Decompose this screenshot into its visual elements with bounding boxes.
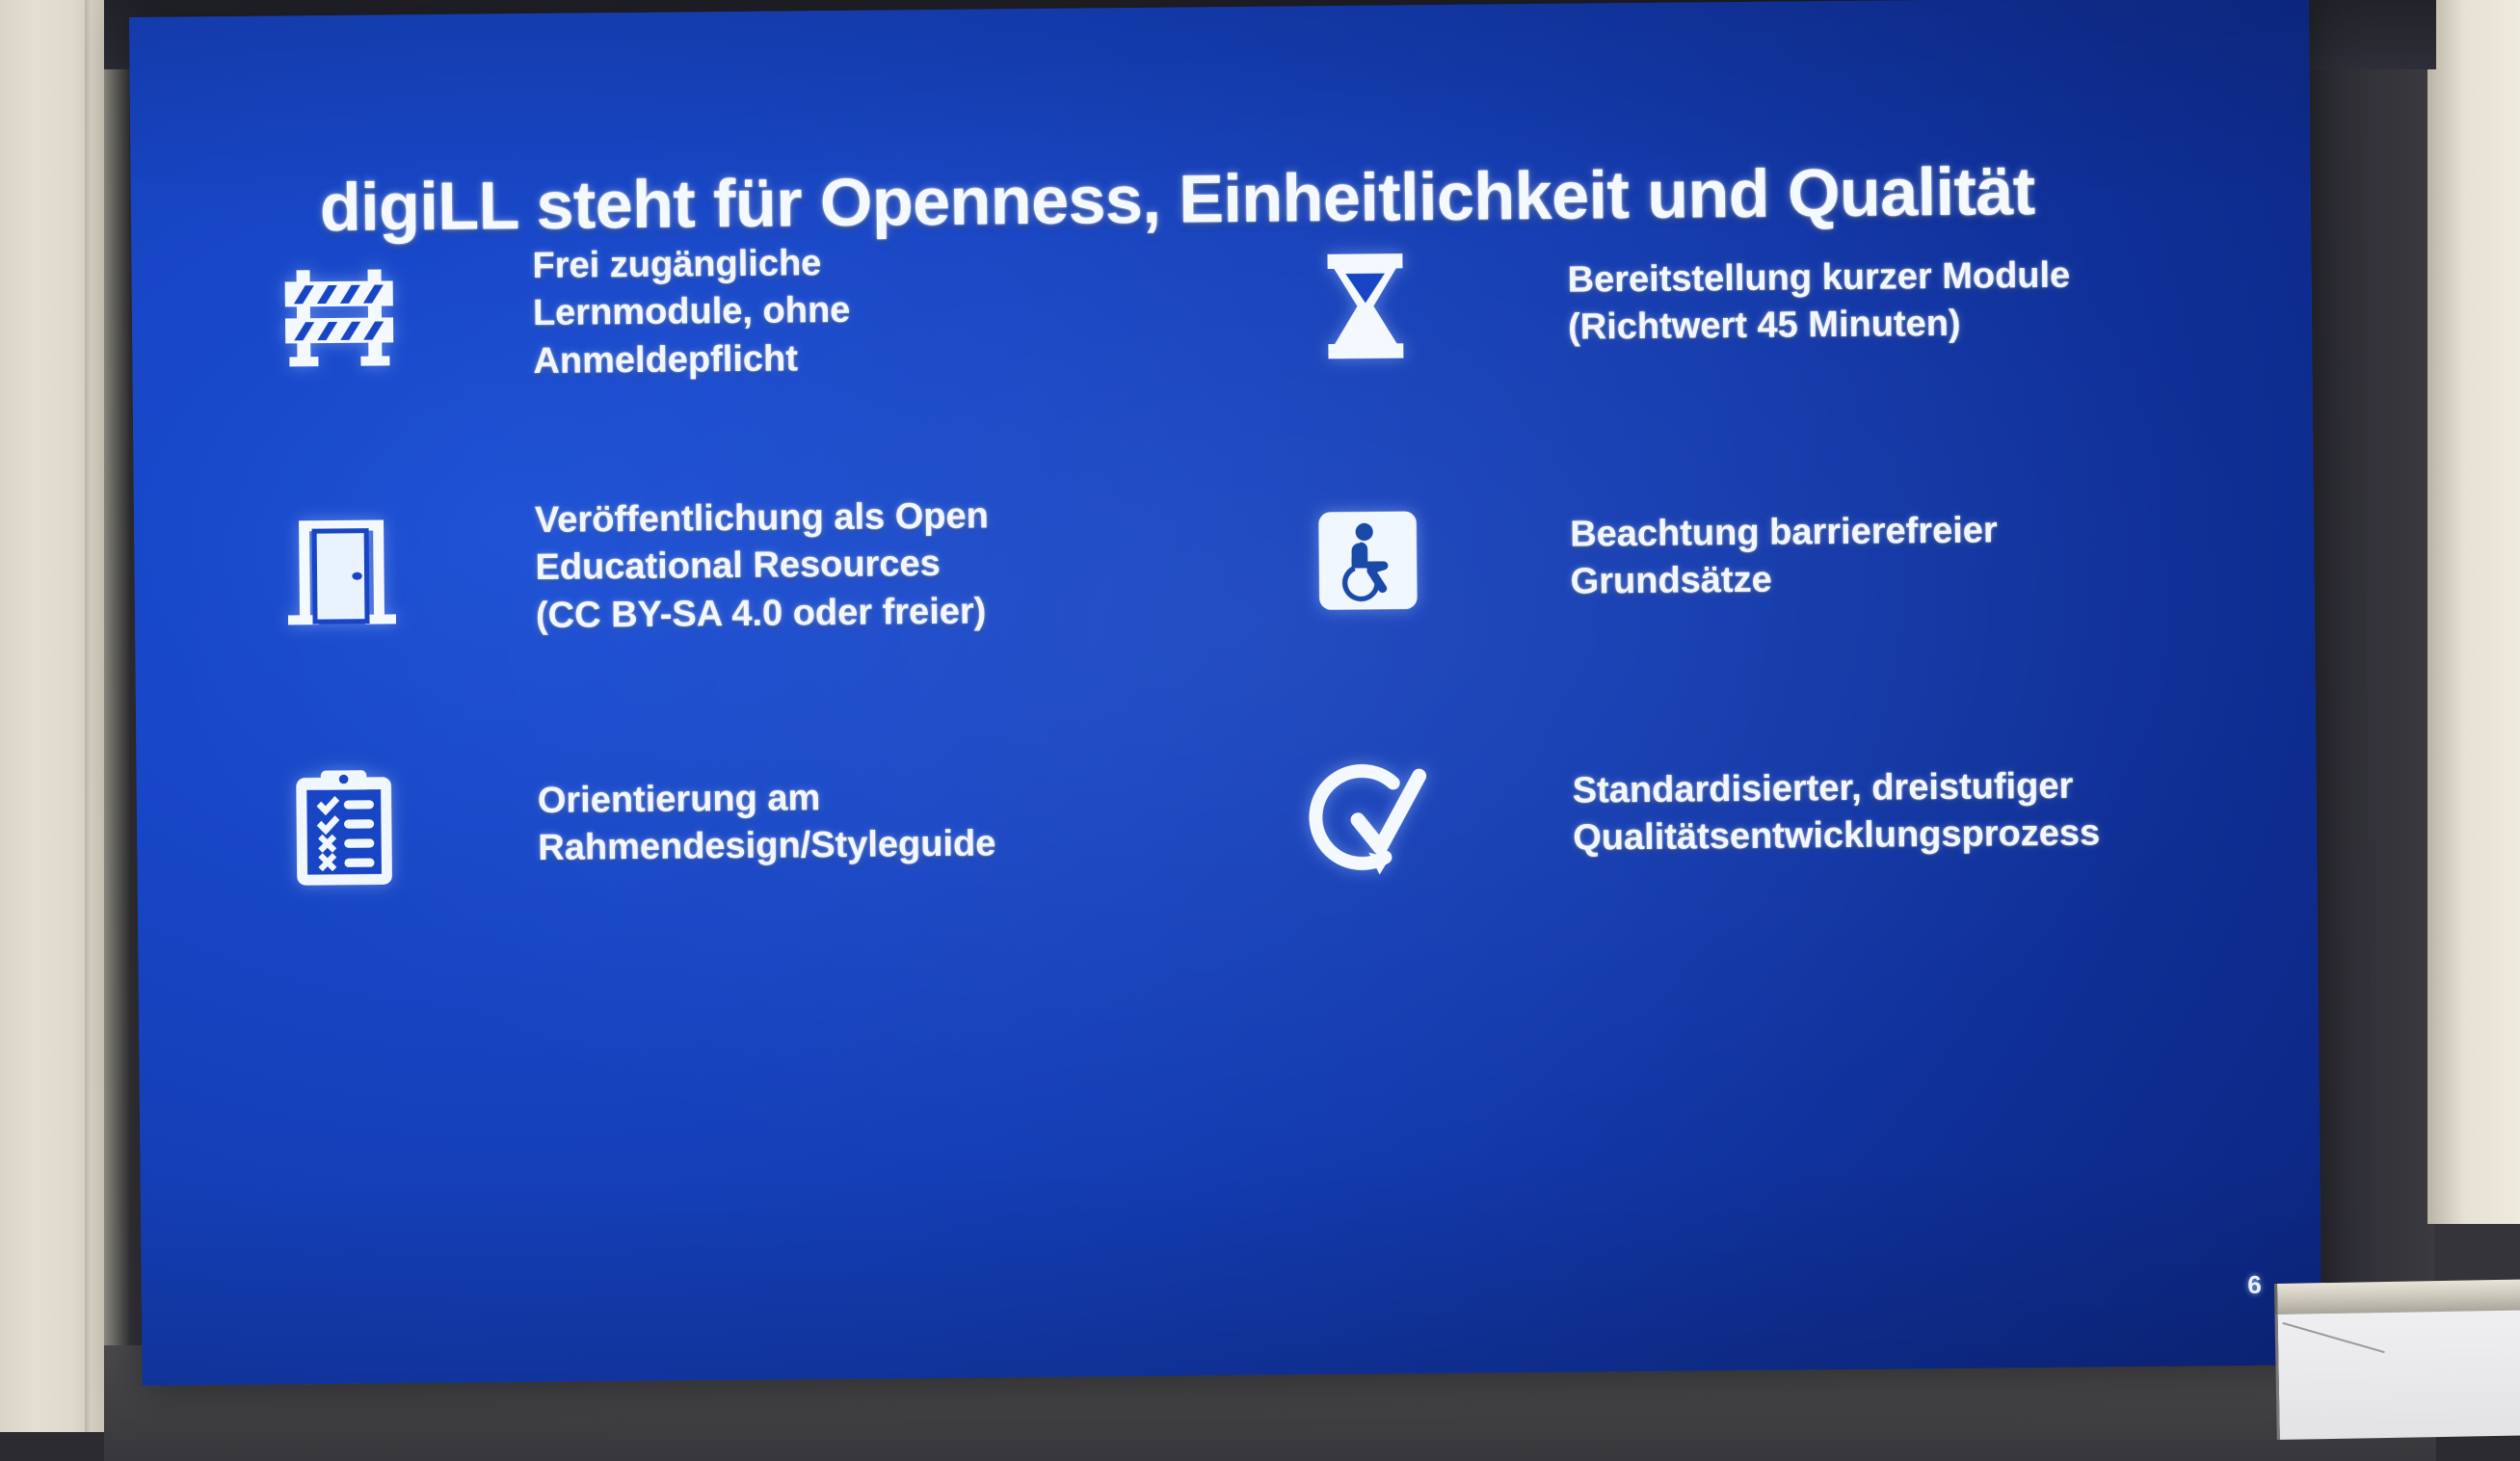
feature-item-quality-process: Standardisierter, dreistufiger Qualitäts… (1263, 726, 2268, 901)
feature-text: Bereitstellung kurzer Module (Richtwert … (1567, 252, 2070, 352)
wheelchair-accessibility-icon (1261, 501, 1474, 621)
feature-text: Beachtung barrierefreier Grundsätze (1570, 507, 1998, 606)
screen-bezel-right (2309, 0, 2434, 1432)
presentation-room: digiLL steht für Openness, Einheitlichke… (0, 0, 2520, 1432)
flipchart-board (2274, 1279, 2520, 1438)
feature-item-module-length: Bereitstellung kurzer Module (Richtwert … (1259, 217, 2263, 388)
slide-content: digiLL steht für Openness, Einheitlichke… (129, 0, 2322, 1386)
hourglass-icon (1259, 247, 1472, 366)
open-door-icon (240, 508, 443, 633)
projection-screen: digiLL steht für Openness, Einheitlichke… (129, 0, 2322, 1386)
feature-grid: Frei zugängliche Lernmodule, ohne Anmeld… (237, 217, 2268, 911)
slide-page-number: 6 (2247, 1270, 2262, 1300)
wall-left-seam (85, 0, 91, 1432)
road-barrier-icon (237, 253, 440, 379)
flipchart-paper (2275, 1310, 2520, 1440)
feature-item-open-access: Frei zugängliche Lernmodule, ohne Anmeld… (237, 226, 1260, 398)
feature-text: Standardisierter, dreistufiger Qualitäts… (1573, 762, 2101, 863)
feature-text: Veröffentlichung als Open Educational Re… (535, 492, 990, 640)
clipboard-checklist-icon (242, 764, 445, 890)
feature-text: Orientierung am Rahmendesign/Styleguide (538, 773, 996, 872)
feature-item-styleguide: Orientierung am Rahmendesign/Styleguide (242, 735, 1265, 911)
wall-shadow-gap (104, 0, 129, 1432)
wall-right-panel (2427, 0, 2520, 1224)
feature-item-oer-license: Veröffentlichung als Open Educational Re… (240, 481, 1263, 652)
feature-text: Frei zugängliche Lernmodule, ohne Anmeld… (532, 240, 851, 385)
cycle-checkmark-icon (1263, 755, 1476, 880)
feature-item-accessibility: Beachtung barrierefreier Grundsätze (1261, 471, 2266, 643)
